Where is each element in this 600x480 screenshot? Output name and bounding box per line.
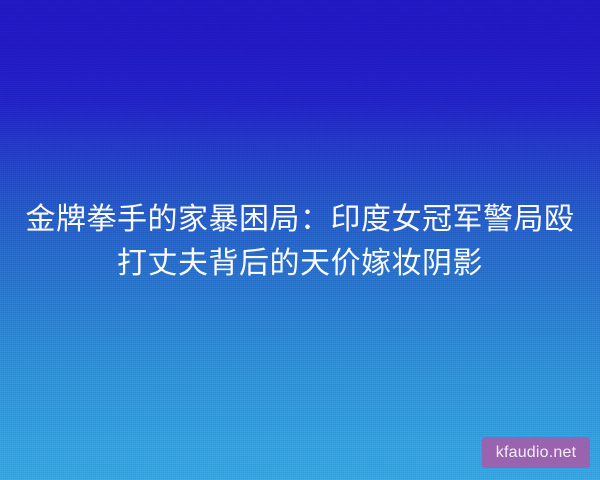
watermark-badge: kfaudio.net [482,437,590,468]
page-title: 金牌拳手的家暴困局：印度女冠军警局殴 打丈夫背后的天价嫁妆阴影 [0,198,600,286]
watermark-label: kfaudio.net [496,445,576,461]
title-card: 金牌拳手的家暴困局：印度女冠军警局殴 打丈夫背后的天价嫁妆阴影 kfaudio.… [0,0,600,480]
